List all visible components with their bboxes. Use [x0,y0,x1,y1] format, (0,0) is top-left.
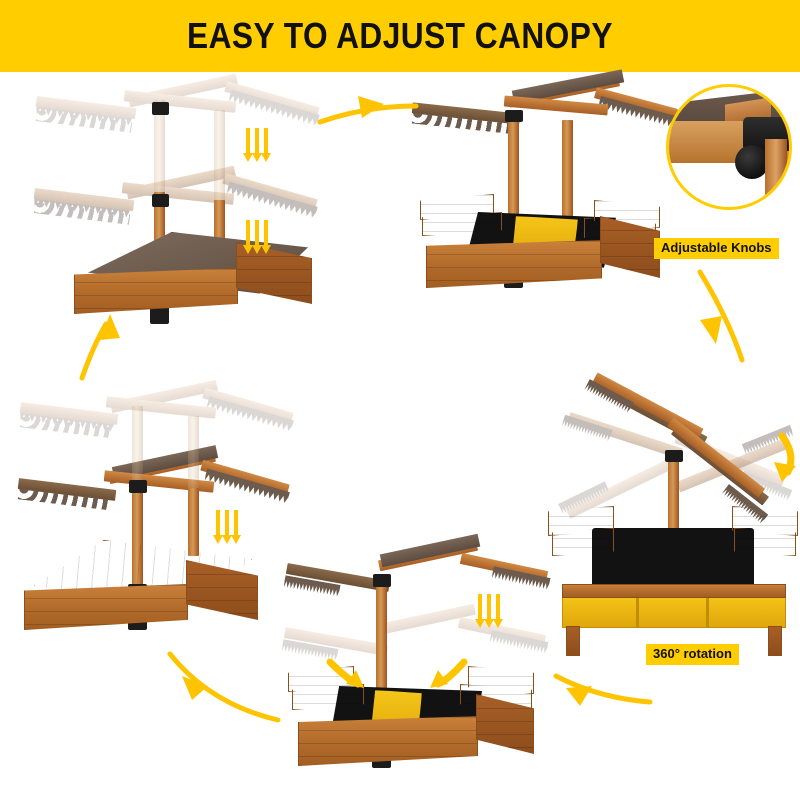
panel-top-right [408,84,678,320]
knob-bracket-top [152,102,169,115]
adjustable-knobs-label: Adjustable Knobs [654,238,779,259]
adjustable-knobs-detail-circle [666,84,792,210]
panel-mid-left [10,388,310,630]
down-arrow [255,128,259,154]
bench-left-seat [552,528,614,556]
canopy-post-closeup [765,139,787,210]
canopy-post-ghost-right [214,110,225,202]
down-arrow [246,128,250,154]
knob-closeup-image [669,87,789,207]
bench-right-seat [734,528,796,556]
sandbox-front-face [298,716,478,766]
drop-arrow-group-1 [246,128,268,154]
down-arrow [255,220,259,246]
leg-right [768,626,782,656]
drop-arrow-group-2 [246,220,268,246]
down-arrow [264,220,268,246]
sandbox-front-face [24,584,188,630]
knob-bracket [505,110,523,122]
plank-texture [75,269,237,313]
down-arrow [264,128,268,154]
down-arrow [225,510,229,536]
arrow-br-to-bc [556,676,650,706]
page-title: EASY TO ADJUST CANOPY [187,15,613,57]
tray-divider [636,594,639,628]
down-arrow [496,594,500,620]
sand-tray-row [562,594,786,628]
sandbox-side-face [186,560,258,620]
panel-bottom-right [544,356,800,656]
tray-divider [706,594,709,628]
header-banner: EASY TO ADJUST CANOPY [0,0,800,72]
adjustable-knob-icon [735,145,769,179]
sandbox-rim [562,584,786,598]
down-arrow [216,510,220,536]
leg-left [566,626,580,656]
canopy-post-right [188,488,199,556]
down-arrow [246,220,250,246]
arrow-ml-to-tl [82,314,120,378]
plank-texture [427,241,601,287]
canopy-post-ghost [132,406,143,490]
panel-top-left [28,82,348,322]
plank-texture [299,717,477,765]
plank-texture [187,561,257,619]
infographic-canvas: EASY TO ADJUST CANOPY [0,0,800,800]
down-arrow [478,594,482,620]
drop-arrow-group-1 [216,510,238,536]
sandbox-front-face [74,268,238,314]
knob-bracket [129,480,147,493]
knob-bracket-mid [152,194,169,207]
down-arrow [487,594,491,620]
canopy-post-rear [562,120,573,220]
rotation-label: 360° rotation [646,644,739,665]
canopy-post-ghost-right [188,416,199,494]
knob-bracket [665,450,683,462]
arrow-bc-to-ml [170,654,278,720]
down-arrow [234,510,238,536]
knob-bracket [373,574,391,587]
drop-arrow-group-1 [478,594,500,620]
plank-texture [25,585,187,629]
sandbox-front-face [426,240,602,288]
arrow-tr-to-br [700,272,742,360]
panel-bottom-center [282,544,552,780]
